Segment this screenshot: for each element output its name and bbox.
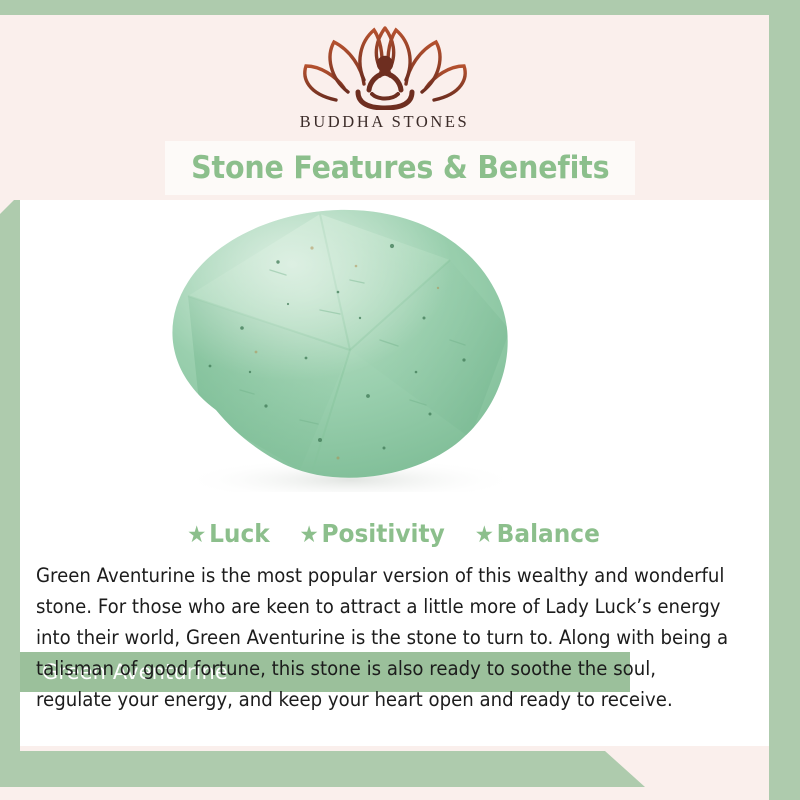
benefit-item-balance: ★Balance: [475, 519, 600, 548]
title-banner: Stone Features & Benefits: [165, 141, 635, 195]
star-icon: ★: [299, 522, 318, 548]
brand-logo: BUDDHA STONES: [0, 22, 769, 132]
benefit-label: Positivity: [321, 519, 444, 548]
page-title: Stone Features & Benefits: [191, 150, 609, 186]
right-accent-bar: [769, 0, 800, 800]
stone-description: Green Aventurine is the most popular ver…: [36, 560, 730, 715]
left-accent-bar: [0, 200, 20, 770]
infographic-page: BUDDHA STONES Stone Features & Benefits: [0, 0, 800, 800]
benefit-label: Balance: [497, 519, 600, 548]
benefit-item-luck: ★Luck: [187, 519, 270, 548]
lotus-meditating-figure-icon: [296, 22, 474, 110]
benefits-row: ★Luck ★Positivity ★Balance: [20, 519, 769, 548]
stone-photo: [20, 200, 769, 492]
brand-wordmark: BUDDHA STONES: [0, 112, 769, 132]
bottom-accent-bar: [0, 751, 645, 787]
green-aventurine-stone-image: [20, 200, 769, 492]
star-icon: ★: [187, 522, 206, 548]
benefit-item-positivity: ★Positivity: [299, 519, 444, 548]
star-icon: ★: [475, 522, 494, 548]
benefit-label: Luck: [209, 519, 270, 548]
